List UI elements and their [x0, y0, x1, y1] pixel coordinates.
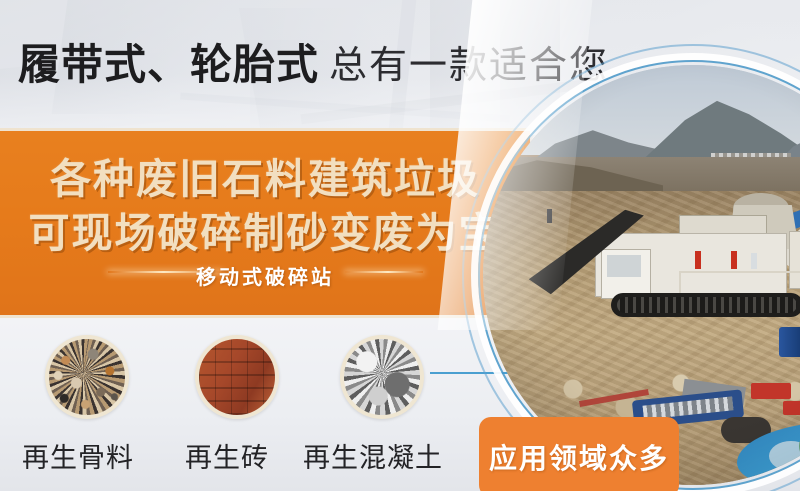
brick-photo-circle	[195, 335, 279, 419]
band-line-1: 各种废旧石料建筑垃圾	[0, 145, 530, 205]
aggregate-photo-circle	[45, 335, 129, 419]
sample-label-brick: 再生砖	[185, 436, 269, 475]
concrete-photo-circle	[340, 335, 424, 419]
cta-button-label: 应用领域众多	[489, 437, 669, 477]
headline-strong: 履带式、轮胎式	[18, 31, 319, 92]
sample-label-aggregate: 再生骨料	[22, 436, 134, 475]
cta-button[interactable]: 应用领域众多	[479, 417, 679, 491]
band-subtitle: 移动式破碎站	[0, 261, 530, 290]
band-line-2: 可现场破碎制砂变废为宝	[0, 199, 530, 259]
promotional-banner: 履带式、轮胎式 总有一款适合您 各种废旧石料建筑垃圾 可现场破碎制砂变废为宝 移…	[0, 0, 800, 491]
orange-message-band: 各种废旧石料建筑垃圾 可现场破碎制砂变废为宝 移动式破碎站	[0, 128, 530, 318]
sample-label-concrete: 再生混凝土	[303, 436, 443, 475]
